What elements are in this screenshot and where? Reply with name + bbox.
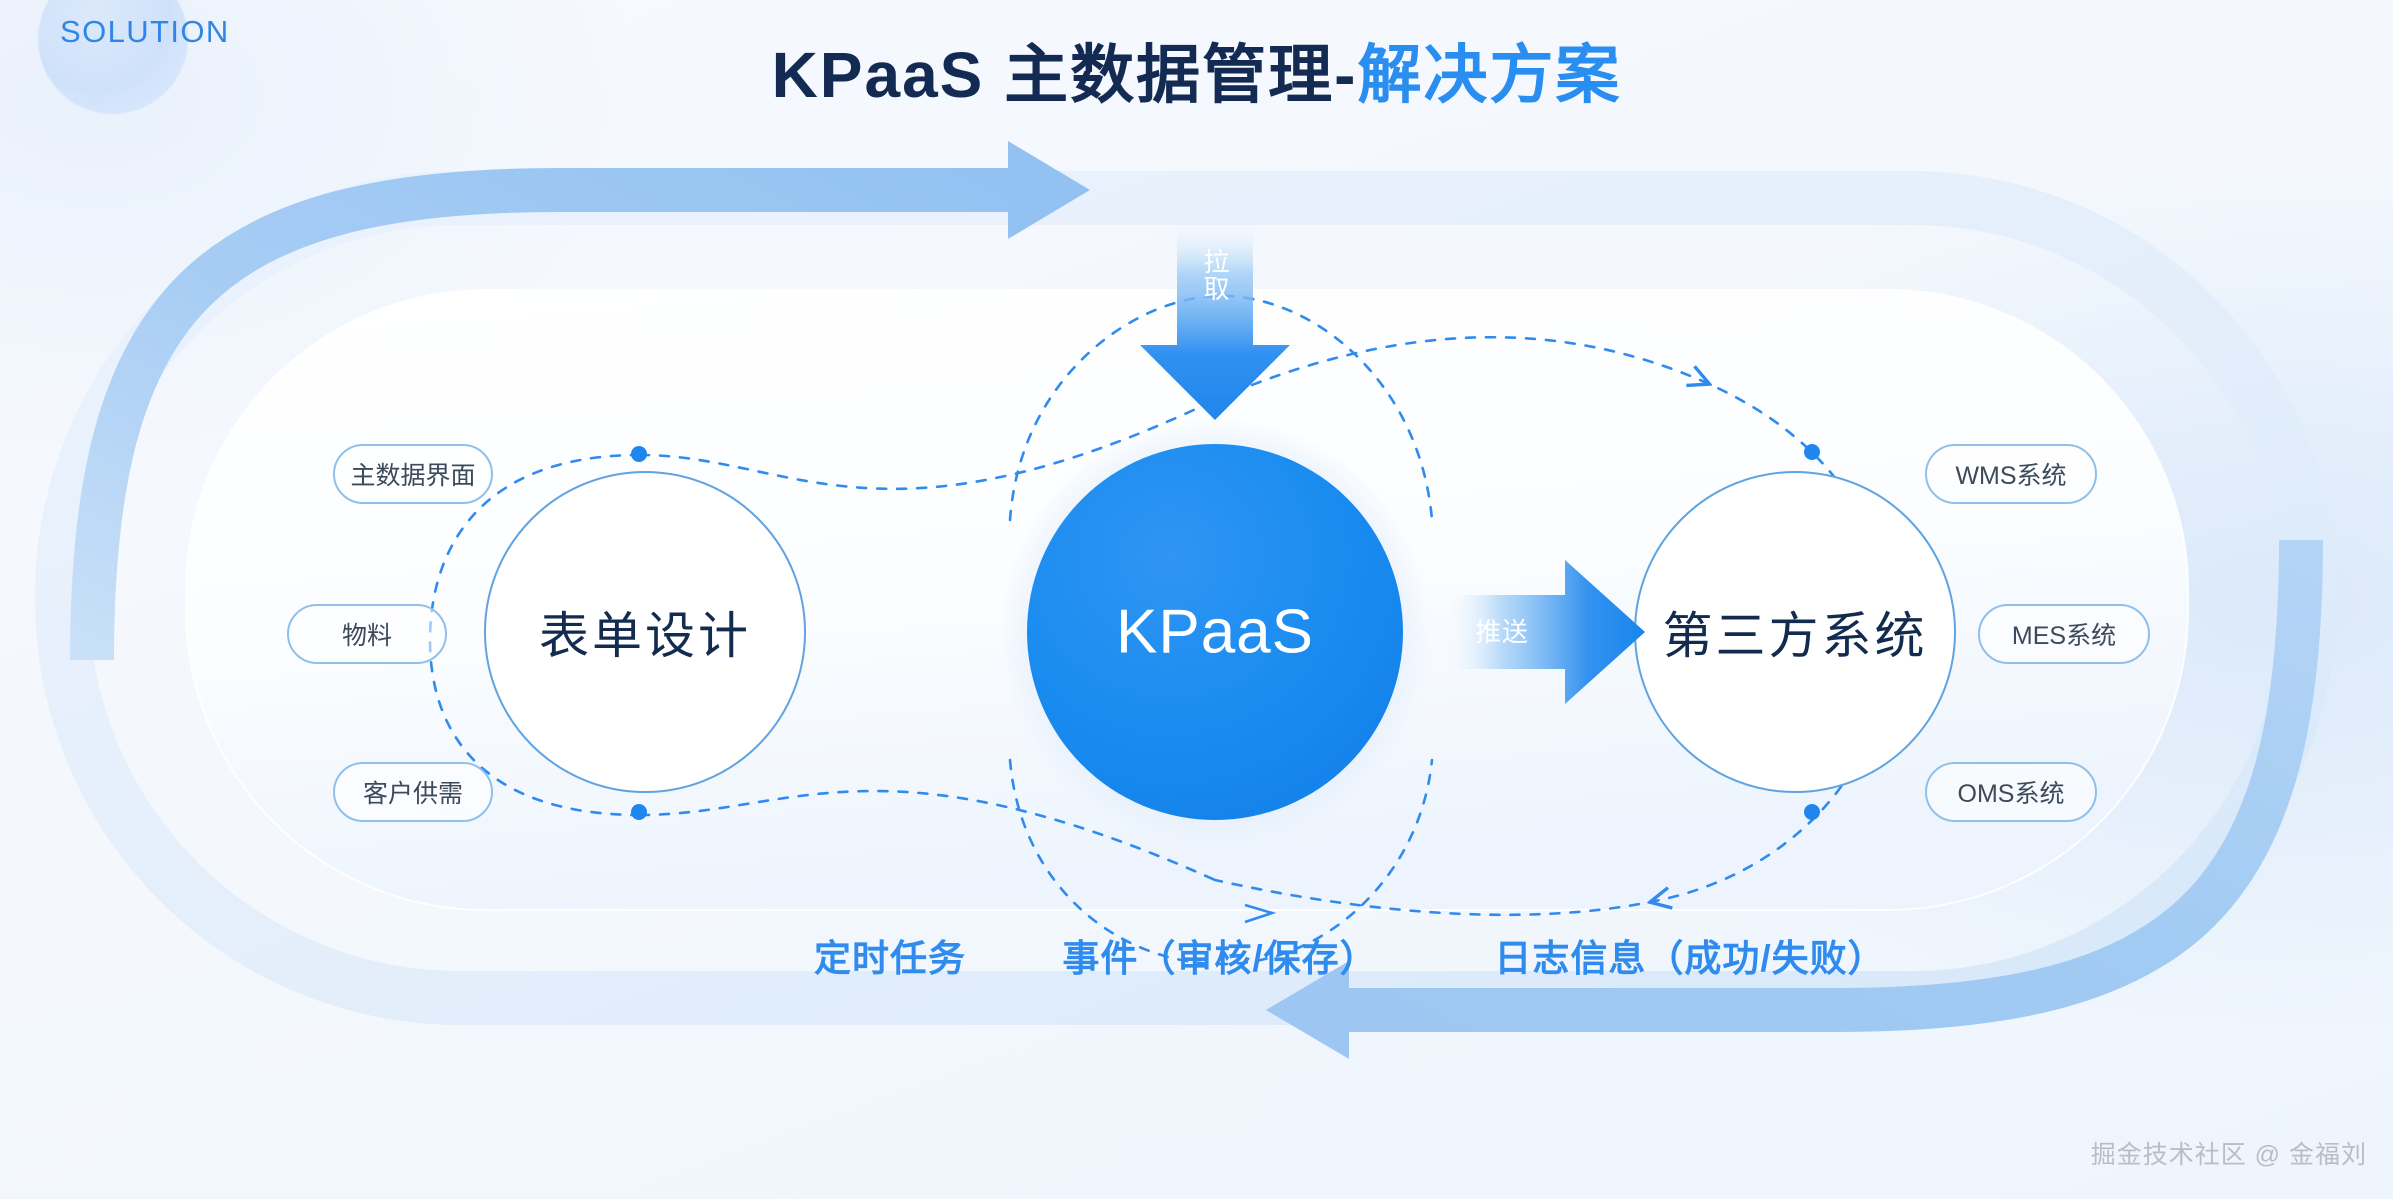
pill-left-2-label: 物料: [342, 616, 392, 652]
pill-right-2-label: MES系统: [2012, 616, 2116, 652]
bottom-note-1: 定时任务: [814, 928, 966, 982]
flow-dot-left-bottom: [631, 804, 647, 820]
bottom-note-3: 日志信息（成功/失败）: [1494, 928, 1885, 982]
pill-left-1-label: 主数据界面: [350, 456, 475, 492]
pill-right-1-label: WMS系统: [1955, 456, 2066, 492]
pull-arrow-label: 拉取: [1201, 248, 1229, 302]
watermark: 掘金技术社区 @ 金福刘: [2091, 1135, 2367, 1171]
pill-right-2[interactable]: MES系统: [1978, 604, 2150, 664]
flow-dot-right-bottom: [1804, 804, 1820, 820]
pill-left-3-label: 客户供需: [363, 774, 463, 810]
node-label-center: KPaaS: [1116, 597, 1314, 668]
pull-label-char1: 拉取: [1201, 248, 1229, 302]
bottom-note-2: 事件（审核/保存）: [1062, 928, 1377, 982]
pill-left-2[interactable]: 物料: [287, 604, 447, 664]
pill-left-1[interactable]: 主数据界面: [333, 444, 493, 504]
push-arrow-label: 推送: [1475, 618, 1529, 646]
pill-left-3[interactable]: 客户供需: [333, 762, 493, 822]
diagram-stage: SOLUTION KPaaS 主数据管理-解决方案: [0, 0, 2393, 1199]
pill-right-3[interactable]: OMS系统: [1925, 762, 2097, 822]
flow-dot-left-top: [631, 446, 647, 462]
node-label-right: 第三方系统: [1663, 596, 1928, 668]
node-label-left: 表单设计: [539, 596, 751, 668]
flow-dot-right-top: [1804, 444, 1820, 460]
pill-right-1[interactable]: WMS系统: [1925, 444, 2097, 504]
pill-right-3-label: OMS系统: [1958, 774, 2065, 810]
